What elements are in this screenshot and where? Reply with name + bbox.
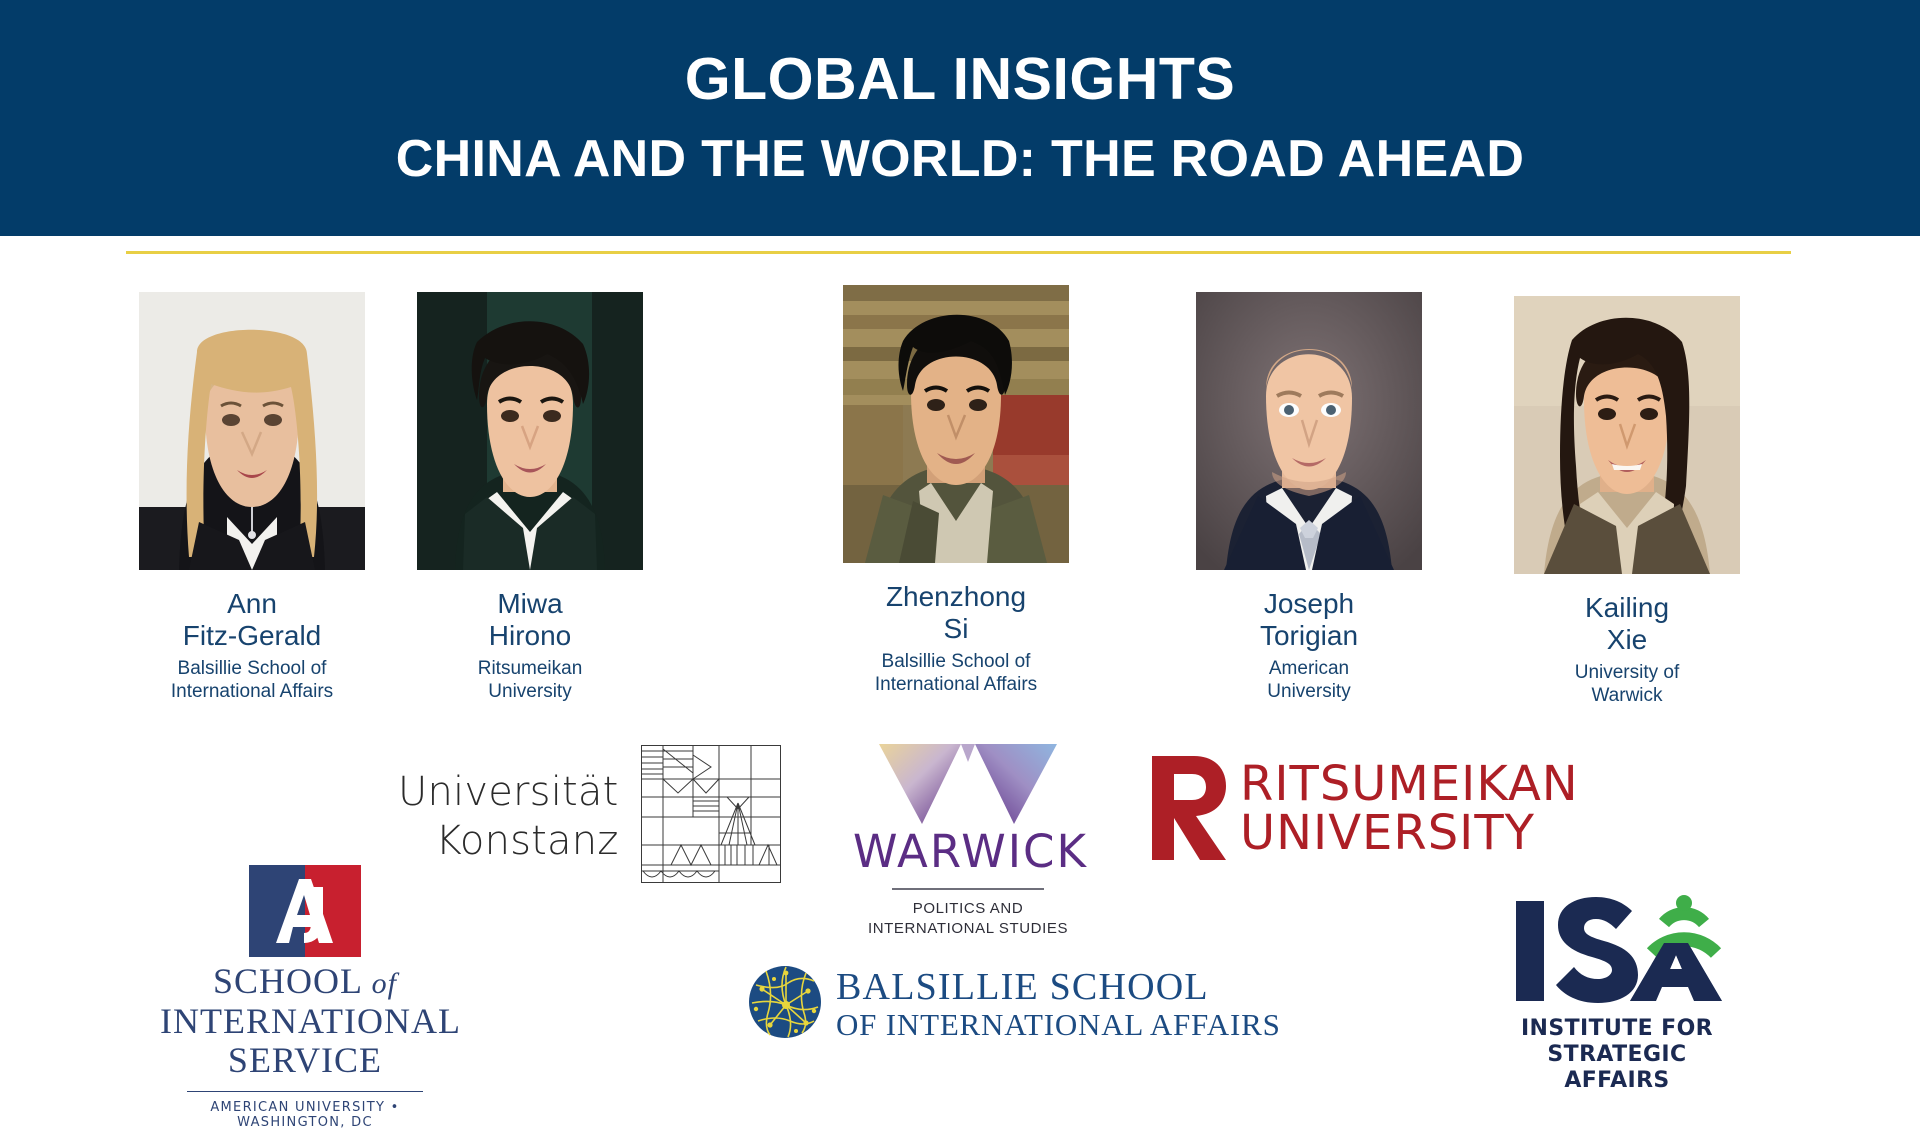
panelist-last-name: Fitz-Gerald: [139, 620, 365, 652]
panelist-affiliation-line1: American: [1196, 657, 1422, 680]
ritsumeikan-wordmark: RITSUMEIKAN UNIVERSITY: [1240, 760, 1579, 858]
panelist-first-name: Miwa: [417, 588, 643, 620]
ritsumeikan-r-icon: [1148, 752, 1226, 865]
logo-warwick-pais: WARWICK POLITICS AND INTERNATIONAL STUDI…: [853, 740, 1083, 940]
avatar: [1196, 292, 1422, 570]
warwick-subtitle-line1: POLITICS AND: [853, 899, 1083, 919]
isa-subtitle-line2: STRATEGIC AFFAIRS: [1512, 1042, 1722, 1094]
panelist-card: Joseph Torigian American University: [1196, 292, 1422, 703]
panelist-affiliation-line1: Balsillie School of: [843, 650, 1069, 673]
logo-ritsumeikan-university: RITSUMEIKAN UNIVERSITY: [1148, 752, 1579, 865]
page-title-line2: CHINA AND THE WORLD: THE ROAD AHEAD: [396, 130, 1524, 190]
gold-divider-rule: [126, 251, 1791, 254]
panelist-first-name: Ann: [139, 588, 365, 620]
page-title-line1: GLOBAL INSIGHTS: [685, 46, 1236, 114]
panelist-affiliation-line1: University of: [1514, 661, 1740, 684]
ritsumeikan-line2: UNIVERSITY: [1240, 809, 1579, 858]
balsillie-globe-icon: [748, 965, 822, 1044]
avatar: [417, 292, 643, 570]
warwick-subtitle-line2: INTERNATIONAL STUDIES: [853, 919, 1083, 939]
logo-balsillie-school: BALSILLIE SCHOOL OF INTERNATIONAL AFFAIR…: [748, 965, 1281, 1044]
isa-subtitle-line1: INSTITUTE FOR: [1512, 1016, 1722, 1042]
header-banner: GLOBAL INSIGHTS CHINA AND THE WORLD: THE…: [0, 0, 1920, 236]
panelist-card: Ann Fitz-Gerald Balsillie School of Inte…: [139, 292, 365, 703]
au-line3: SERVICE: [160, 1041, 450, 1081]
panelist-list: Ann Fitz-Gerald Balsillie School of Inte…: [0, 292, 1920, 732]
panelist-affiliation-line2: International Affairs: [843, 673, 1069, 696]
balsillie-wordmark: BALSILLIE SCHOOL OF INTERNATIONAL AFFAIR…: [836, 967, 1281, 1042]
logo-au-school-of-international-service: SCHOOL of INTERNATIONAL SERVICE AMERICAN…: [160, 865, 450, 1130]
au-monogram-icon: [249, 944, 361, 961]
panelist-affiliation-line2: Warwick: [1514, 684, 1740, 707]
au-line1: SCHOOL of: [160, 962, 450, 1002]
panelist-first-name: Joseph: [1196, 588, 1422, 620]
panelist-card: Zhenzhong Si Balsillie School of Interna…: [843, 285, 1069, 696]
logo-isa: INSTITUTE FOR STRATEGIC AFFAIRS: [1512, 885, 1722, 1094]
avatar: [139, 292, 365, 570]
panelist-last-name: Xie: [1514, 624, 1740, 656]
panelist-affiliation-line2: University: [417, 680, 643, 703]
panelist-last-name: Torigian: [1196, 620, 1422, 652]
panelist-last-name: Hirono: [417, 620, 643, 652]
panelist-affiliation-line1: Ritsumeikan: [417, 657, 643, 680]
warwick-divider: [892, 888, 1044, 890]
logo-universitaet-konstanz: Universität Konstanz: [398, 745, 781, 888]
isa-acronym-icon: [1512, 992, 1722, 1009]
panelist-card: Kailing Xie University of Warwick: [1514, 296, 1740, 707]
konstanz-wordmark: Universität Konstanz: [398, 768, 619, 866]
panelist-affiliation-line1: Balsillie School of: [139, 657, 365, 680]
panelist-last-name: Si: [843, 613, 1069, 645]
balsillie-line2: OF INTERNATIONAL AFFAIRS: [836, 1008, 1281, 1041]
ritsumeikan-line1: RITSUMEIKAN: [1240, 760, 1579, 809]
balsillie-line1: BALSILLIE SCHOOL: [836, 967, 1281, 1008]
au-divider: [187, 1091, 423, 1092]
avatar: [1514, 296, 1740, 574]
konstanz-grid-icon: [641, 745, 781, 888]
panelist-affiliation-line2: International Affairs: [139, 680, 365, 703]
warwick-wordmark: WARWICK: [853, 825, 1083, 878]
avatar: [843, 285, 1069, 563]
panelist-affiliation-line2: University: [1196, 680, 1422, 703]
panelist-first-name: Kailing: [1514, 592, 1740, 624]
au-footer: AMERICAN UNIVERSITY • WASHINGTON, DC: [160, 1100, 450, 1130]
konstanz-line1: Universität: [398, 768, 619, 817]
panelist-first-name: Zhenzhong: [843, 581, 1069, 613]
konstanz-line2: Konstanz: [398, 817, 619, 866]
panelist-card: Miwa Hirono Ritsumeikan University: [417, 292, 643, 703]
au-line2: INTERNATIONAL: [160, 1002, 450, 1042]
